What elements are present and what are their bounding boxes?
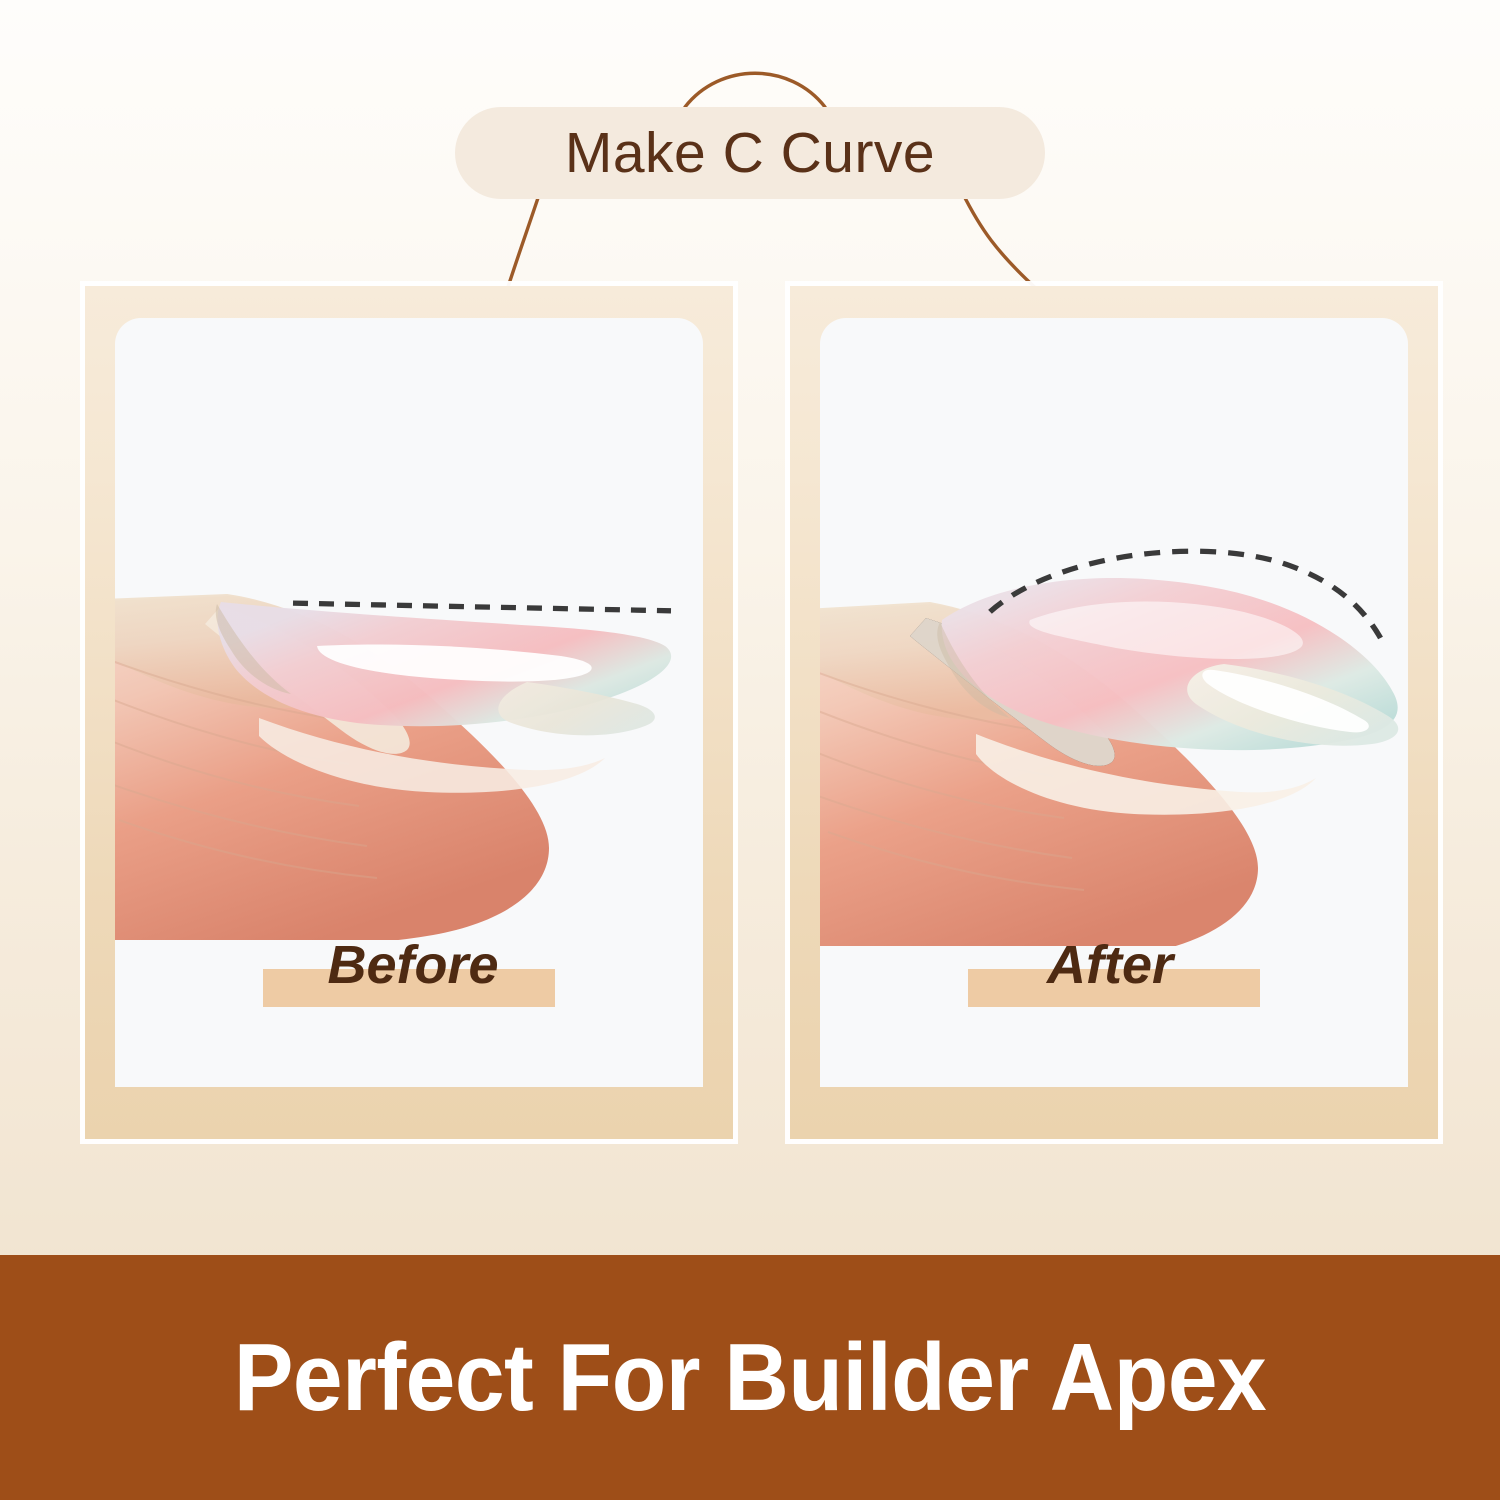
panel-after: After (790, 286, 1438, 1139)
caption-label: Before (115, 937, 703, 994)
photo-card-after: After (820, 318, 1408, 1087)
caption-before: Before (115, 937, 703, 1011)
page-title: Make C Curve (565, 125, 935, 182)
connector-line-right (962, 192, 1040, 292)
bottom-banner: Perfect For Builder Apex (0, 1255, 1500, 1500)
caption-after: After (820, 937, 1408, 1011)
caption-label: After (820, 937, 1408, 994)
panel-before: Before (85, 286, 733, 1139)
connector-line-left (507, 192, 540, 290)
promo-graphic: Make C Curve (0, 0, 1500, 1500)
header-pill: Make C Curve (455, 107, 1045, 199)
connector-arc-top (685, 73, 825, 107)
banner-headline: Perfect For Builder Apex (234, 1323, 1266, 1433)
photo-card-before: Before (115, 318, 703, 1087)
